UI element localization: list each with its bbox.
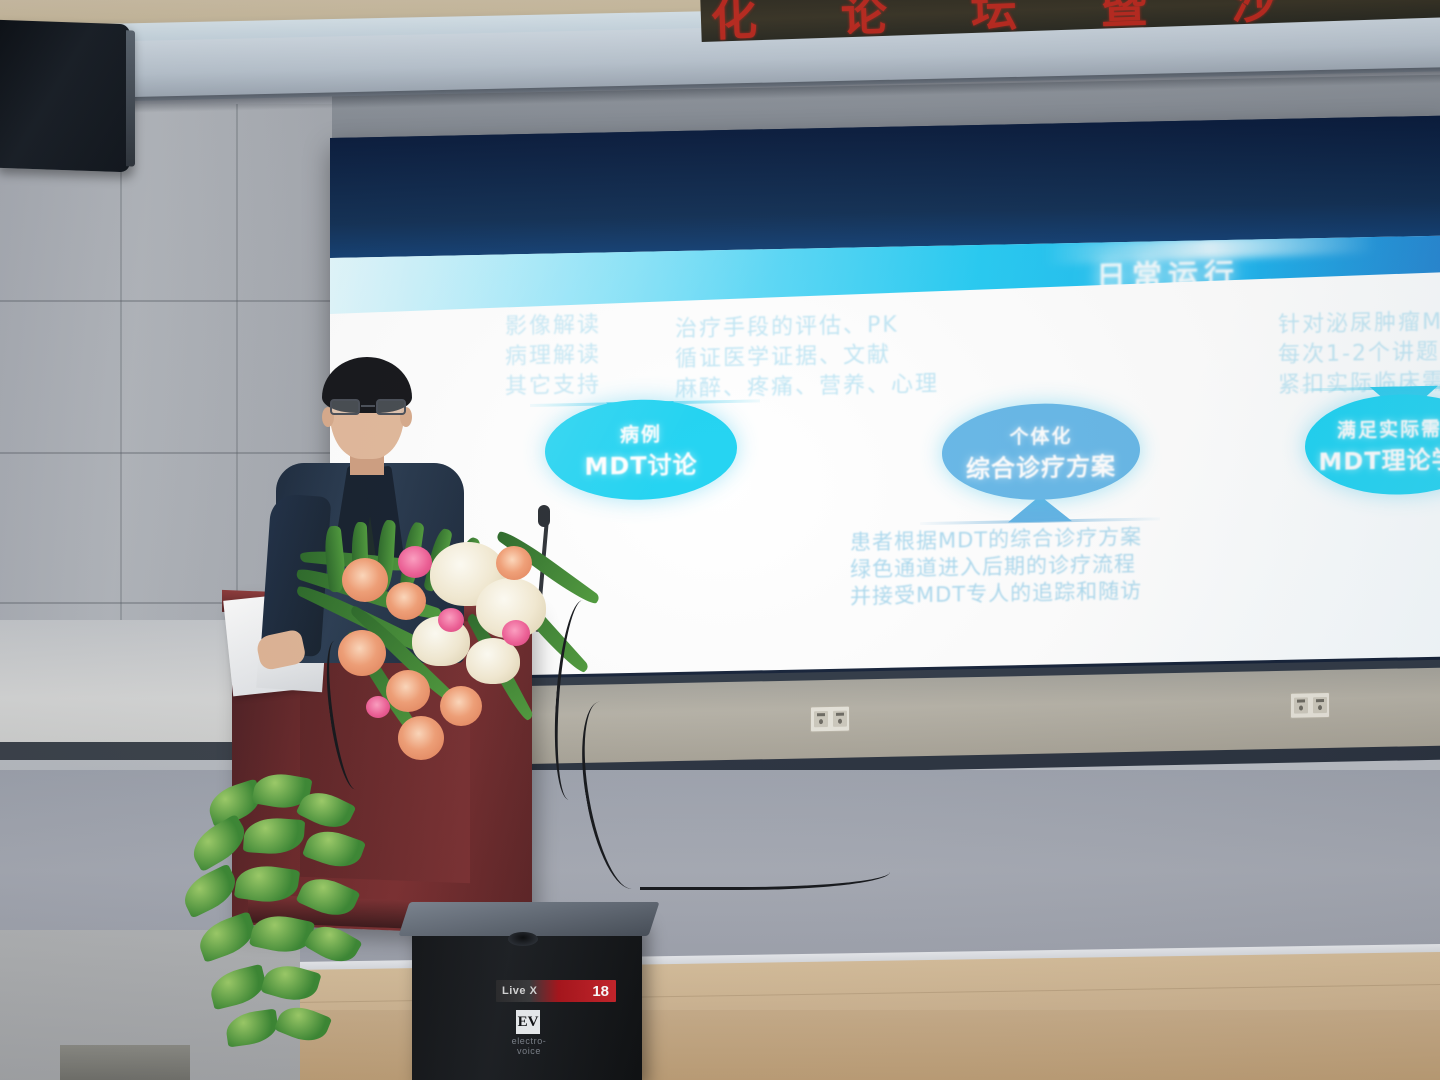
subwoofer-brand-label: electro-voice xyxy=(500,1036,558,1056)
subwoofer-top-panel xyxy=(398,902,659,936)
slide-text-bottom: 患者根据MDT的综合诊疗方案 绿色通道进入后期的诊疗流程 并接受MDT专人的追踪… xyxy=(850,524,1142,611)
glasses-icon xyxy=(330,399,406,415)
subwoofer-size-label: 18 xyxy=(592,983,609,1000)
potted-plant xyxy=(182,770,412,1080)
slide-node-individualized-plan: 个体化 综合诊疗方案 xyxy=(942,402,1140,502)
power-outlet xyxy=(1290,692,1330,719)
slide-node-1-line1: 病例 xyxy=(620,419,662,447)
electro-voice-logo-icon: EV xyxy=(516,1010,540,1034)
slide-node-case-mdt: 病例 MDT讨论 xyxy=(545,398,737,502)
plant-pot xyxy=(60,1045,190,1080)
slide-node-2-line1: 个体化 xyxy=(1009,421,1072,449)
slide-node-1-line2: MDT讨论 xyxy=(584,444,697,481)
ceiling-speaker xyxy=(0,20,130,173)
slide-text-middle: 治疗手段的评估、PK 循证医学证据、文献 麻醉、疼痛、营养、心理 xyxy=(675,310,939,405)
slide-node-2-line2: 综合诊疗方案 xyxy=(966,446,1116,484)
subwoofer-pole-socket xyxy=(508,932,538,946)
slide-node-3-line2: MDT理论学习 xyxy=(1318,438,1440,476)
wall-seam xyxy=(0,300,332,302)
subwoofer-badge: Live X 18 xyxy=(496,980,616,1002)
slide-text-left: 影像解读 病理解读 其它支持 xyxy=(505,311,601,403)
slide-node-3-line1: 满足实际需求 xyxy=(1337,413,1440,443)
power-outlet xyxy=(810,706,850,733)
slide-node-mdt-learning: 满足实际需求 MDT理论学习 xyxy=(1305,393,1440,497)
conference-hall-photo: 化 论 坛 暨 沙 日常运行 影像解读 病理解读 其它支持 治疗手段的评估、PK… xyxy=(0,0,1440,1080)
subwoofer-series-label: Live X xyxy=(502,985,537,997)
